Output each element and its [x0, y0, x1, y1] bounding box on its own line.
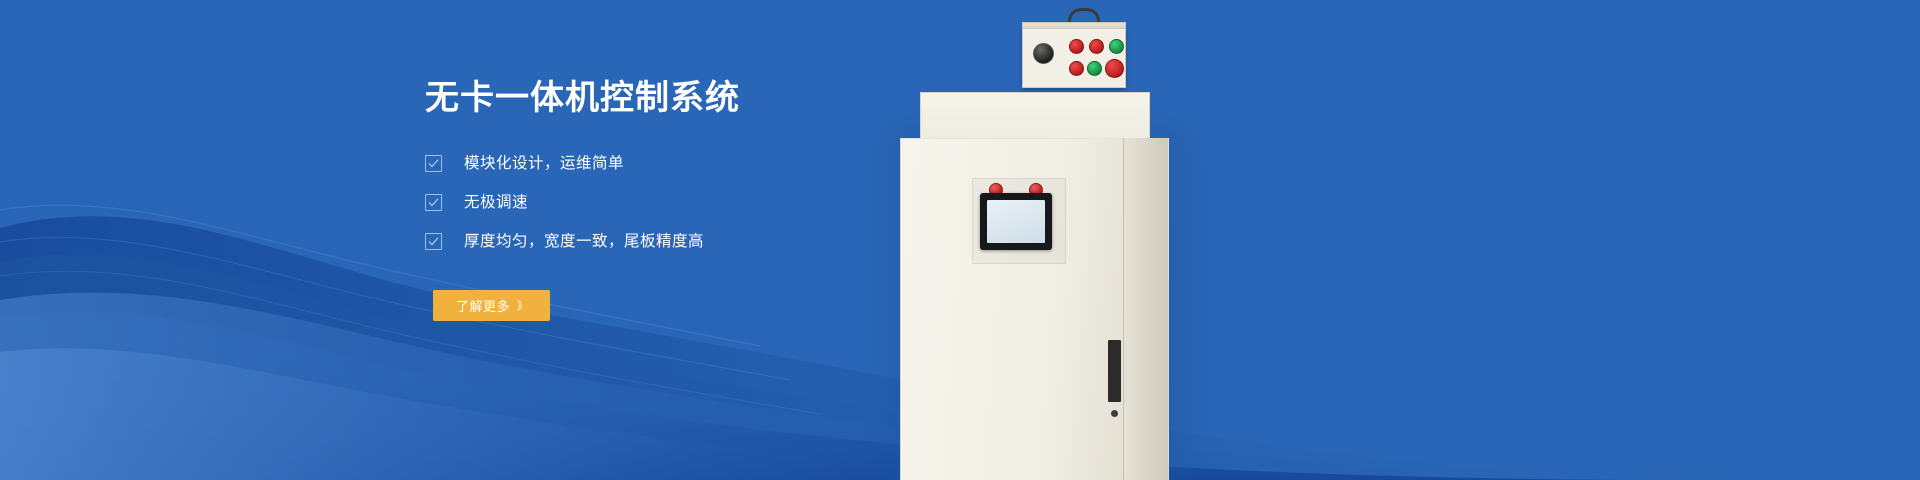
hmi-touchscreen[interactable]: [980, 193, 1052, 250]
checkbox-checked-icon: [425, 155, 442, 172]
push-button-green-2[interactable]: [1087, 61, 1102, 76]
hero-banner: 无卡一体机控制系统 模块化设计，运维简单 无极调速: [0, 0, 1920, 480]
push-button-red-1[interactable]: [1069, 39, 1084, 54]
hmi-screen-glass: [987, 200, 1045, 243]
feature-label: 厚度均匀，宽度一致，尾板精度高: [464, 234, 704, 250]
list-item: 无极调速: [425, 192, 945, 214]
list-item: 模块化设计，运维简单: [425, 153, 945, 175]
feature-label: 无极调速: [464, 195, 528, 211]
emergency-button-red[interactable]: [1105, 59, 1124, 78]
page-title: 无卡一体机控制系统: [425, 78, 945, 119]
push-button-green-1[interactable]: [1109, 39, 1124, 54]
selector-knob[interactable]: [1033, 43, 1054, 64]
learn-more-label: 了解更多: [456, 296, 510, 315]
feature-label: 模块化设计，运维简单: [464, 156, 624, 172]
feature-list: 模块化设计，运维简单 无极调速 厚度均匀，宽度一致，尾板精度高: [425, 153, 945, 253]
list-item: 厚度均匀，宽度一致，尾板精度高: [425, 231, 945, 253]
cabinet-panel-seam: [1123, 138, 1124, 480]
cabinet-vent-slot: [1108, 340, 1121, 402]
operator-button-panel: [1022, 28, 1126, 88]
cabinet-side-panel: [1123, 138, 1168, 480]
push-button-red-2[interactable]: [1089, 39, 1104, 54]
cabinet-lock: [1111, 410, 1118, 417]
learn-more-button[interactable]: 了解更多 》: [433, 290, 550, 321]
cabinet-top-section: [920, 92, 1150, 140]
hero-content: 无卡一体机控制系统 模块化设计，运维简单 无极调速: [425, 78, 945, 321]
push-button-red-3[interactable]: [1069, 61, 1084, 76]
chevron-right-icon: 》: [517, 297, 527, 313]
checkbox-checked-icon: [425, 194, 442, 211]
checkbox-checked-icon: [425, 233, 442, 250]
